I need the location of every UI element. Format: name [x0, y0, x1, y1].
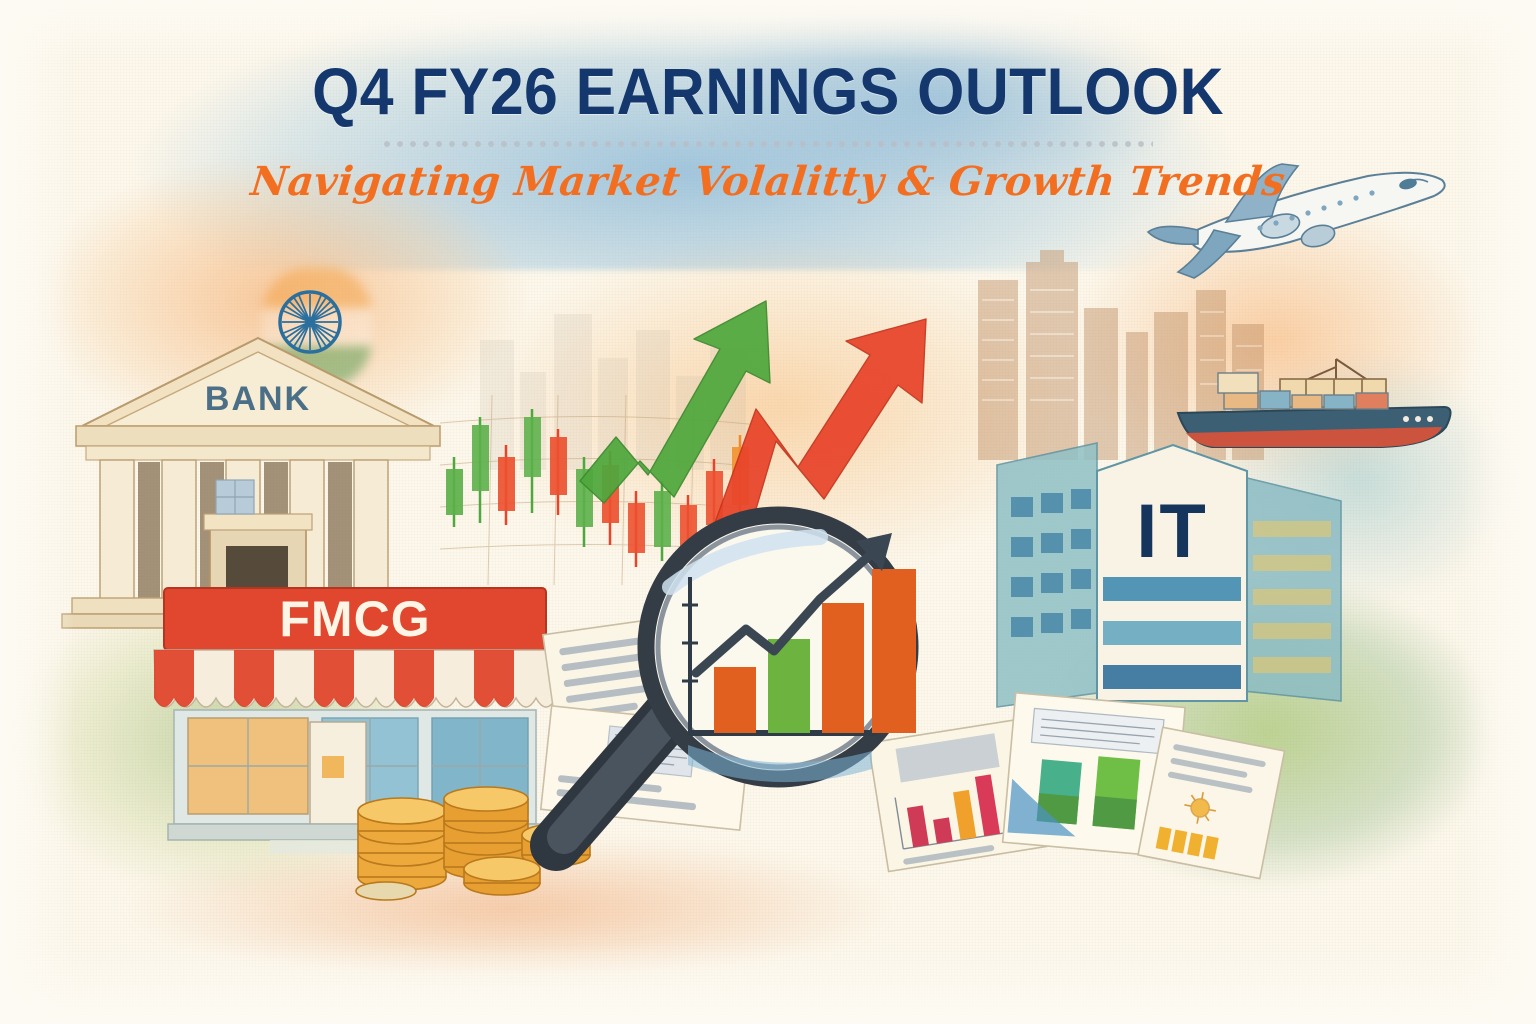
cargo-ship	[1170, 345, 1460, 455]
fmcg-label: FMCG	[279, 591, 430, 647]
it-label: IT	[1136, 489, 1208, 574]
growth-arrows	[570, 285, 970, 545]
title-divider	[383, 140, 1153, 148]
poster-header: Q4 FY26 EARNINGS OUTLOOK Navigating Mark…	[0, 58, 1536, 205]
poster-canvas: BANK FMCG	[0, 0, 1536, 1024]
bank-label: BANK	[205, 380, 311, 418]
magnifying-glass	[520, 515, 990, 915]
it-office-building: IT	[985, 425, 1355, 725]
page-subtitle: Navigating Market Volalitty & Growth Tre…	[0, 158, 1536, 205]
page-title: Q4 FY26 EARNINGS OUTLOOK	[61, 58, 1474, 124]
